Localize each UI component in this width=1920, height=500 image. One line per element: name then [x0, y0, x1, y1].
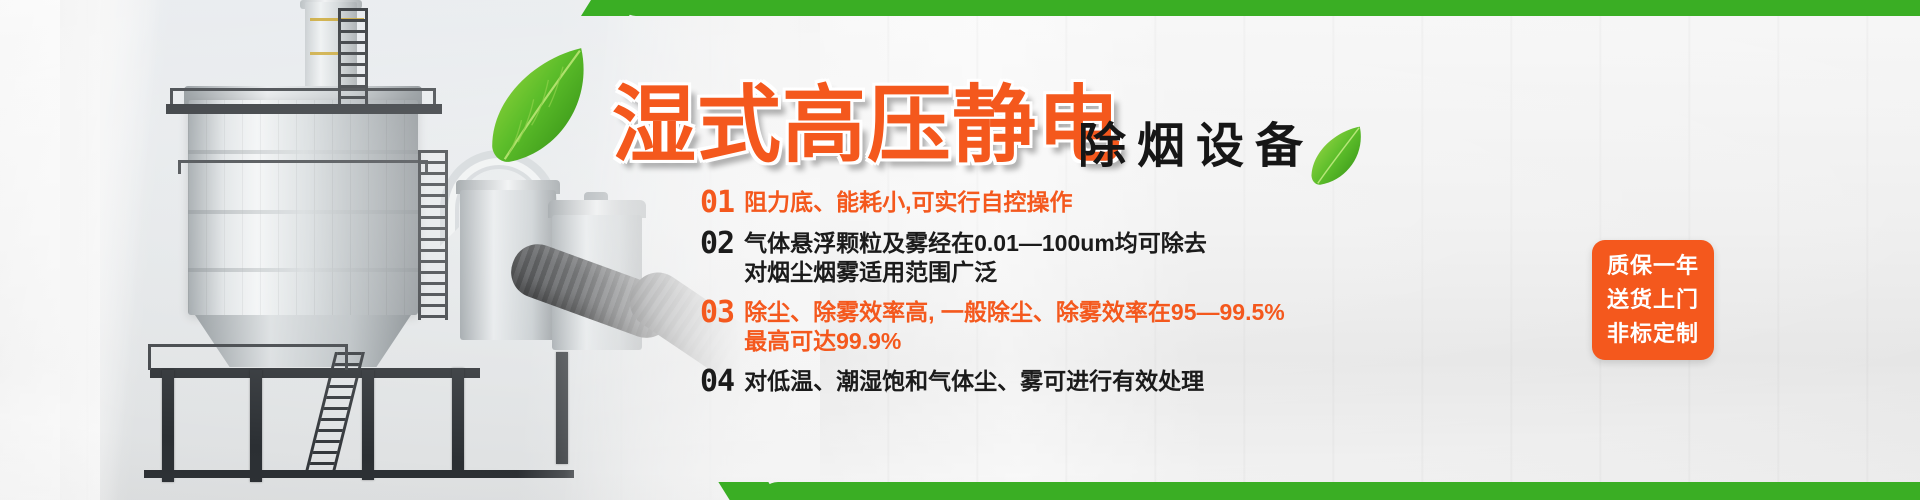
feature-text-block: 气体悬浮颗粒及雾经在0.01—100um均可除去 对烟尘烟雾适用范围广泛 [744, 229, 1207, 287]
green-bar-top [620, 0, 1920, 16]
feature-number: 01 [700, 188, 734, 218]
feature-text-block: 对低温、潮湿饱和气体尘、雾可进行有效处理 [744, 367, 1204, 396]
feature-line: 气体悬浮颗粒及雾经在0.01—100um均可除去 [744, 229, 1207, 258]
feature-number: 02 [700, 229, 734, 259]
feature-item-02: 02 气体悬浮颗粒及雾经在0.01—100um均可除去 对烟尘烟雾适用范围广泛 [700, 229, 1280, 287]
feature-item-03: 03 除尘、除雾效率高, 一般除尘、除雾效率在95—99.5% 最高可达99.9… [700, 298, 1280, 356]
feature-line: 阻力底、能耗小,可实行自控操作 [744, 188, 1072, 217]
headline-subtitle: 除烟设备 [1078, 106, 1314, 176]
headline-title: 湿式高压静电 [612, 58, 1122, 179]
guarantee-badge[interactable]: 质保一年 送货上门 非标定制 [1592, 240, 1714, 360]
feature-line: 对低温、潮湿饱和气体尘、雾可进行有效处理 [744, 367, 1204, 396]
badge-line: 送货上门 [1607, 283, 1699, 317]
badge-line: 非标定制 [1607, 317, 1699, 351]
badge-line: 质保一年 [1607, 249, 1699, 283]
feature-number: 03 [700, 298, 734, 328]
feature-item-04: 04 对低温、潮湿饱和气体尘、雾可进行有效处理 [700, 367, 1280, 397]
feature-text-block: 除尘、除雾效率高, 一般除尘、除雾效率在95—99.5% 最高可达99.9% [744, 298, 1285, 356]
feature-line: 除尘、除雾效率高, 一般除尘、除雾效率在95—99.5% [744, 298, 1285, 327]
feature-number: 04 [700, 367, 734, 397]
feature-text-block: 阻力底、能耗小,可实行自控操作 [744, 188, 1072, 217]
feature-item-01: 01 阻力底、能耗小,可实行自控操作 [700, 188, 1280, 218]
promo-banner: 湿式高压静电 除烟设备 01 阻力底、能耗小,可实行自控操作 02 气体悬浮颗粒… [0, 0, 1920, 500]
feature-list: 01 阻力底、能耗小,可实行自控操作 02 气体悬浮颗粒及雾经在0.01—100… [700, 188, 1280, 403]
feature-line: 最高可达99.9% [744, 327, 1285, 356]
feature-line: 对烟尘烟雾适用范围广泛 [744, 258, 1207, 287]
green-bar-bottom [760, 482, 1920, 500]
